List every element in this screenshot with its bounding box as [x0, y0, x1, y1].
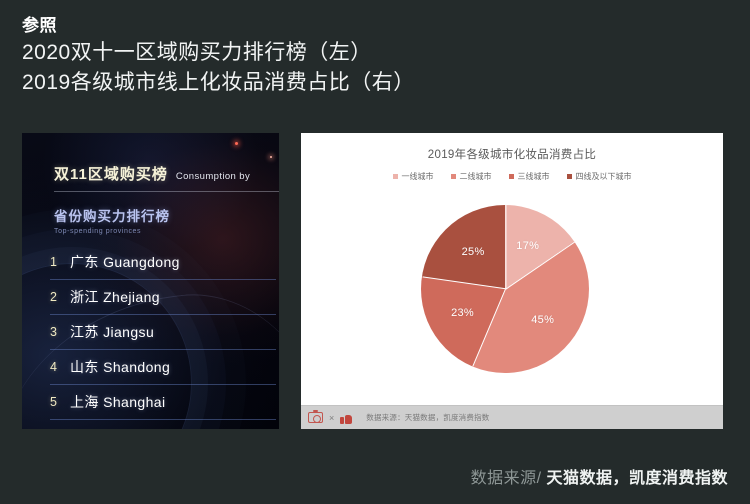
right-chart-image: 2019年各级城市化妆品消费占比 一线城市二线城市三线城市四线及以下城市 17%… [301, 133, 723, 429]
left-panel-header-en: Consumption by [176, 171, 250, 182]
province-name: 山东 Shandong [70, 357, 170, 377]
rank-number: 1 [50, 255, 59, 269]
left-panel-subtitle: 省份购买力排行榜 Top-spending provinces [54, 205, 170, 235]
header-eyebrow: 参照 [22, 14, 415, 38]
list-item: 5上海 Shanghai [50, 385, 276, 420]
header-title-line-2: 2019各级城市线上化妆品消费占比（右） [22, 68, 415, 98]
legend-item[interactable]: 三线城市 [509, 171, 550, 182]
pie-slice-label: 45% [531, 314, 554, 326]
pie-slice-divider [505, 205, 506, 289]
province-name: 广东 Guangdong [70, 252, 180, 272]
province-name: 浙江 Zhejiang [70, 287, 160, 307]
glow-dot-secondary-icon [270, 156, 272, 158]
province-ranking-list: 1广东 Guangdong2浙江 Zhejiang3江苏 Jiangsu4山东 … [50, 245, 276, 420]
left-panel-subtitle-cn: 省份购买力排行榜 [54, 205, 170, 225]
legend-swatch-icon [509, 174, 514, 179]
legend-label: 三线城市 [518, 171, 550, 182]
chart-title: 2019年各级城市化妆品消费占比 [301, 146, 723, 162]
glow-dot-icon [235, 142, 238, 145]
camera-icon [308, 412, 323, 423]
rank-number: 2 [50, 290, 59, 304]
attribution-value: 天猫数据，凯度消费指数 [546, 470, 728, 487]
attribution-label: 数据来源/ [471, 470, 542, 487]
legend-label: 四线及以下城市 [576, 171, 632, 182]
list-item: 4山东 Shandong [50, 350, 276, 385]
chart-source-text: 数据来源：天猫数据，凯度消费指数 [366, 412, 489, 423]
pie-slice-label: 23% [451, 307, 474, 319]
left-panel-header-cn: 双11区域购买榜 [54, 163, 168, 184]
pie-slice-label: 25% [462, 246, 485, 258]
rank-number: 3 [50, 325, 59, 339]
rank-number: 4 [50, 360, 59, 374]
province-name: 上海 Shanghai [70, 392, 165, 412]
legend-label: 一线城市 [402, 171, 434, 182]
legend-item[interactable]: 二线城市 [451, 171, 492, 182]
pie-slice-label: 17% [516, 240, 539, 252]
legend-swatch-icon [567, 174, 572, 179]
left-ranking-image: 双11区域购买榜 Consumption by 省份购买力排行榜 Top-spe… [22, 133, 279, 429]
list-item: 2浙江 Zhejiang [50, 280, 276, 315]
attribution: 数据来源/ 天猫数据，凯度消费指数 [471, 464, 728, 488]
header-title-line-1: 2020双十一区域购买力排行榜（左） [22, 38, 415, 68]
legend-swatch-icon [393, 174, 398, 179]
left-panel-subtitle-en: Top-spending provinces [54, 228, 170, 235]
left-panel-header: 双11区域购买榜 Consumption by [54, 163, 279, 192]
province-name: 江苏 Jiangsu [70, 322, 154, 342]
list-item: 3江苏 Jiangsu [50, 315, 276, 350]
legend-item[interactable]: 一线城市 [393, 171, 434, 182]
chart-source-bar: × 数据来源：天猫数据，凯度消费指数 [301, 405, 723, 429]
chart-legend: 一线城市二线城市三线城市四线及以下城市 [301, 171, 723, 182]
legend-swatch-icon [451, 174, 456, 179]
list-item: 1广东 Guangdong [50, 245, 276, 280]
pie-chart: 17%45%23%25% [421, 205, 589, 373]
legend-item[interactable]: 四线及以下城市 [567, 171, 632, 182]
page-header: 参照 2020双十一区域购买力排行榜（左） 2019各级城市线上化妆品消费占比（… [22, 14, 415, 98]
multiply-icon: × [329, 413, 334, 423]
thumbs-up-icon [340, 412, 352, 424]
legend-label: 二线城市 [460, 171, 492, 182]
rank-number: 5 [50, 395, 59, 409]
